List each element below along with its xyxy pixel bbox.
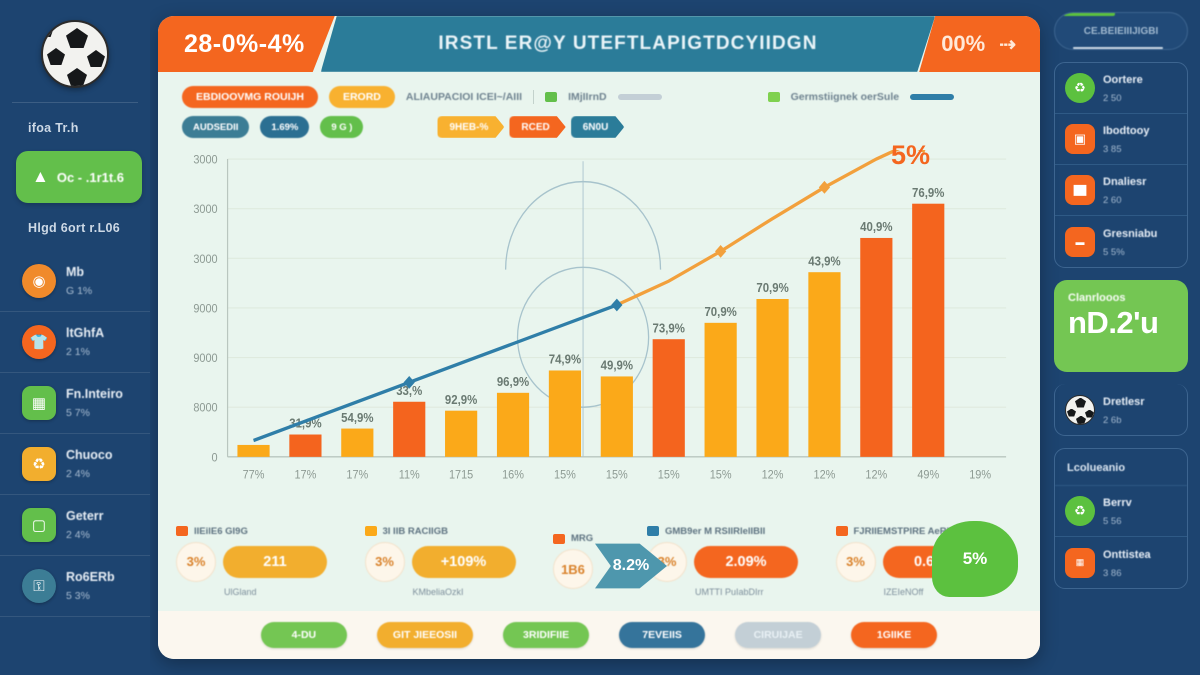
sidebar-item-sub: 5 3% [66,590,90,602]
card-header: 28-0%-4% IRSTL ER@Y UTEFTLAPIGTDCYIIDGN … [158,16,1040,72]
recycle-icon: ♻ [1065,73,1095,103]
chart-bar [289,435,321,457]
chart-icon: ██ [1065,175,1095,205]
sidebar-item-3[interactable]: ♻ Chuoco 2 4% [0,434,150,495]
stat-label: 3I IIB RACIIGB [383,526,448,537]
bar-value-label: 70,9% [704,304,737,319]
dashboard-root: ifoa Tr.h ▲ Oc - .1r1t.6 Hlgd 6ort r.L06… [0,0,1200,675]
footer-button-1[interactable]: GIT JIEEOSII [377,622,473,648]
right-item-1[interactable]: ▣ Ibodtooy 3 85 [1055,114,1187,165]
sidebar-item-sub: 2 4% [66,468,90,480]
stat-label: GMB9er M RSIlRlelIBII [665,526,765,537]
sidebar-item-label: Mb [66,265,84,279]
right-item-sub: 3 85 [1103,144,1122,155]
right-item-5[interactable]: ♻ Berrv 5 56 [1055,486,1187,537]
bar-value-label: 43,9% [808,254,841,269]
header-left-badge: 28-0%-4% [158,16,335,72]
chart-bar [497,393,529,457]
main-content: 28-0%-4% IRSTL ER@Y UTEFTLAPIGTDCYIIDGN … [150,0,1050,675]
x-axis-tick: 15% [606,468,628,482]
stat-pill[interactable]: +109% [412,546,516,578]
right-item-0[interactable]: ♻ Oortere 2 50 [1055,63,1187,114]
footer-button-5[interactable]: 1GIIKE [851,622,937,648]
flag-icon: ▢ [22,508,56,542]
filter-chip-1[interactable]: ERORD [329,86,395,108]
y-axis-tick: 9000 [193,351,218,365]
bar-value-label: 49,9% [601,358,634,373]
y-axis-tick: 9000 [193,302,218,316]
chart-bar [237,445,269,457]
right-item-label: Gresniabu [1103,228,1157,240]
sidebar-item-label: Geterr [66,509,104,523]
x-axis-tick: 19% [969,468,991,482]
ticket-icon: ▬ [1065,227,1095,257]
right-sidebar: CE.BEIEIIIJIGBI ♻ Oortere 2 50 ▣ Ibodtoo… [1050,0,1200,675]
stat-swatch [836,526,848,536]
filter-area: EBDIOOVMG ROUIJH ERORD ALIAUPACIOI ICEI~… [158,72,1040,146]
x-axis-tick: 12% [865,468,887,482]
sidebar-item-2[interactable]: ▦ Fn.Inteiro 5 7% [0,373,150,434]
footer-button-3[interactable]: 7EVEIIS [619,622,705,648]
stat-sub: UMTTI PuIabDIrr [647,587,834,597]
sidebar-item-1[interactable]: 👕 ltGhfA 2 1% [0,312,150,373]
legend-label-0: IMjIIrnD [568,91,607,103]
right-item-3[interactable]: ▬ Gresniabu 5 5% [1055,216,1187,267]
x-axis-tick: 11% [399,468,420,482]
footer-button-4[interactable]: CIRUIJAE [735,622,821,648]
x-axis-tick: 12% [762,468,784,482]
chart-bar [705,323,737,457]
right-item-sub: 5 56 [1103,516,1122,527]
right-item-label: Berrv [1103,497,1132,509]
legend-bar-blue [910,94,954,100]
soccer-ball-icon [41,20,109,88]
right-group-3: Lcolueanio ♻ Berrv 5 56 ▦ Onttistea 3 86 [1054,448,1188,589]
bar-value-label: 76,9% [912,185,945,200]
legend-swatch-green [545,92,557,102]
sidebar-item-4[interactable]: ▢ Geterr 2 4% [0,495,150,556]
left-sidebar: ifoa Tr.h ▲ Oc - .1r1t.6 Hlgd 6ort r.L06… [0,0,150,675]
stat-pill[interactable]: 211 [223,546,327,578]
right-group-2: Dretlesr 2 6b [1054,384,1188,436]
stat-label: MRG [571,533,593,544]
globe-icon: ⚿ [22,569,56,603]
right-section-label: Lcolueanio [1055,449,1187,486]
right-item-sub: 2 60 [1103,195,1122,206]
stat-1: 3I IIB RACIIGB 3% +109% KMbeliaOzkI [365,526,552,597]
chart-svg: 300030003000900090008000077%31,9%17%54,9… [166,150,1020,511]
stat-sub: UlGland [176,587,363,597]
sidebar-item-sub: 2 4% [66,529,90,541]
kpi-label: Clanrlooos [1068,292,1188,304]
recycle-icon: ♻ [22,447,56,481]
chart-bar [912,204,944,457]
stat-swatch [365,526,377,536]
legend-swatch-green-2 [768,92,780,102]
right-item-label: Ibodtooy [1103,125,1149,137]
bar-value-label: 74,9% [549,352,582,367]
right-item-sub: 2 6b [1103,415,1122,426]
sidebar-section-primary: ifoa Tr.h [0,103,150,151]
chart-bar [393,402,425,457]
chart-percent-callout: 5% [891,140,930,171]
chart-bar [860,238,892,457]
bar-value-label: 54,9% [341,410,374,425]
legend-bar-gray [618,94,662,100]
bar-value-label: 40,9% [860,220,893,235]
right-item-sub: 2 50 [1103,93,1122,104]
chart-bar [808,272,840,457]
filter-row-2: AUDSEDII 1.69% 9 G ) 9HEB-% RCED 6N0U [182,112,1016,142]
filter-row-1: EBDIOOVMG ROUIJH ERORD ALIAUPACIOI ICEI~… [182,82,1016,112]
grid-icon: ▦ [1065,548,1095,578]
chart-icon: ▲ [32,167,49,187]
dashboard-card: 28-0%-4% IRSTL ER@Y UTEFTLAPIGTDCYIIDGN … [158,16,1040,659]
filter-tag-0[interactable]: 9HEB-% [437,116,504,138]
x-axis-tick: 17% [346,468,368,482]
right-item-6[interactable]: ▦ Onttistea 3 86 [1055,537,1187,588]
search-input[interactable]: CE.BEIEIIIJIGBI [1054,12,1188,50]
x-axis-tick: 17% [294,468,316,482]
stat-3: GMB9er M RSIlRlelIBII 3% 2.09% UMTTI PuI… [647,526,834,597]
x-axis-tick: 15% [554,468,576,482]
bar-value-label: 70,9% [756,281,789,296]
sidebar-item-sub: 5 7% [66,407,90,419]
x-axis-tick: 15% [710,468,732,482]
sidebar-item-active[interactable]: ▲ Oc - .1r1t.6 [16,151,142,203]
jersey-icon: 👕 [22,325,56,359]
sidebar-item-label: Ro6ERb [66,570,115,584]
filter-tag-2[interactable]: 6N0U [571,116,625,138]
page-title: IRSTL ER@Y UTEFTLAPIGTDCYIIDGN [321,16,935,72]
filter-chip-0[interactable]: EBDIOOVMG ROUIJH [182,86,318,108]
stat-swatch [553,534,565,544]
stat-circle: 3% [836,542,876,582]
right-item-label: Oortere [1103,74,1143,86]
y-axis-tick: 3000 [193,153,218,167]
y-axis-tick: 0 [212,451,219,465]
sidebar-active-label: Oc - .1r1t.6 [57,170,124,185]
stat-sub: KMbeliaOzkI [365,587,552,597]
header-right-badge[interactable]: 00% ⇢ [919,16,1040,72]
calendar-icon: ▣ [1065,124,1095,154]
bar-value-label: 96,9% [497,374,530,389]
right-item-label: Dretlesr [1103,396,1145,408]
y-axis-tick: 3000 [193,252,218,266]
stat-circle: 3% [365,542,405,582]
x-axis-tick: 12% [814,468,836,482]
right-item-label: Dnaliesr [1103,176,1146,188]
bar-value-label: 92,9% [445,392,478,407]
stat-swatch [176,526,188,536]
y-axis-tick: 8000 [193,401,218,415]
right-group-1: ♻ Oortere 2 50 ▣ Ibodtooy 3 85 ██ Dnalie… [1054,62,1188,268]
sidebar-item-5[interactable]: ⚿ Ro6ERb 5 3% [0,556,150,617]
stat-circle: 3% [176,542,216,582]
arrow-right-icon: ⇢ [999,32,1014,57]
filter-pill-0[interactable]: AUDSEDII [182,116,249,138]
legend-label-1: Germstiignek oerSule [791,91,900,103]
chart-bar [549,370,581,456]
stat-swatch [647,526,659,536]
filter-pill-1[interactable]: 1.69% [260,116,309,138]
recycle-icon: ♻ [1065,496,1095,526]
right-item-sub: 5 5% [1103,247,1125,258]
footer-button-0[interactable]: 4-DU [261,622,347,648]
chart-container: 5% 300030003000900090008000077%31,9%17%5… [158,146,1040,511]
right-item-4[interactable]: Dretlesr 2 6b [1055,384,1187,435]
chart-bar [756,299,788,457]
footer-button-2[interactable]: 3RIDIFIIE [503,622,589,648]
sidebar-item-label: Chuoco [66,448,113,462]
app-logo[interactable] [0,8,150,100]
sidebar-item-label: Fn.Inteiro [66,387,123,401]
sidebar-item-0[interactable]: ◉ Mb G 1% [0,251,150,312]
stadium-icon: ▦ [22,386,56,420]
x-axis-tick: 49% [917,468,939,482]
x-axis-tick: 77% [243,468,265,482]
chart-bar [601,376,633,456]
bar-value-label: 73,9% [653,321,686,336]
stat-pill[interactable]: 2.09% [694,546,798,578]
stat-label: lIEilE6 GI9G [194,526,248,537]
sidebar-section-secondary: Hlgd 6ort r.L06 [0,203,150,251]
chart-bar [653,339,685,457]
stat-circle: 1B6 [553,549,593,589]
right-item-sub: 3 86 [1103,568,1122,579]
filter-pill-2[interactable]: 9 G ) [320,116,363,138]
filter-tag-1[interactable]: RCED [509,116,565,138]
sidebar-item-sub: 2 1% [66,346,90,358]
y-axis-tick: 3000 [193,203,218,217]
coin-icon: ◉ [22,264,56,298]
sidebar-item-sub: G 1% [66,285,92,297]
stat-0: lIEilE6 GI9G 3% 211 UlGland [176,526,363,597]
right-item-label: Onttistea [1103,549,1151,561]
right-item-2[interactable]: ██ Dnaliesr 2 60 [1055,165,1187,216]
chart-plot: 300030003000900090008000077%31,9%17%54,9… [166,150,1020,511]
stats-strip: lIEilE6 GI9G 3% 211 UlGland 3I IIB RACII… [158,511,1040,611]
header-right-value: 00% [941,31,985,57]
x-axis-tick: 1715 [449,468,473,482]
footer-button-bar: 4-DU GIT JIEEOSII 3RIDIFIIE 7EVEIIS CIRU… [158,611,1040,659]
filter-divider [533,90,534,104]
sidebar-item-label: ltGhfA [66,326,104,340]
chart-bar [341,429,373,457]
leaf-badge: 5% [932,521,1018,597]
filter-text-0: ALIAUPACIOI ICEI~/AIII [406,91,522,103]
kpi-value: nD.2'u [1068,304,1188,341]
kpi-card: Clanrlooos nD.2'u [1054,280,1188,372]
x-axis-tick: 15% [658,468,680,482]
x-axis-tick: 16% [502,468,524,482]
chart-bar [445,411,477,457]
soccer-ball-icon [1065,395,1095,425]
